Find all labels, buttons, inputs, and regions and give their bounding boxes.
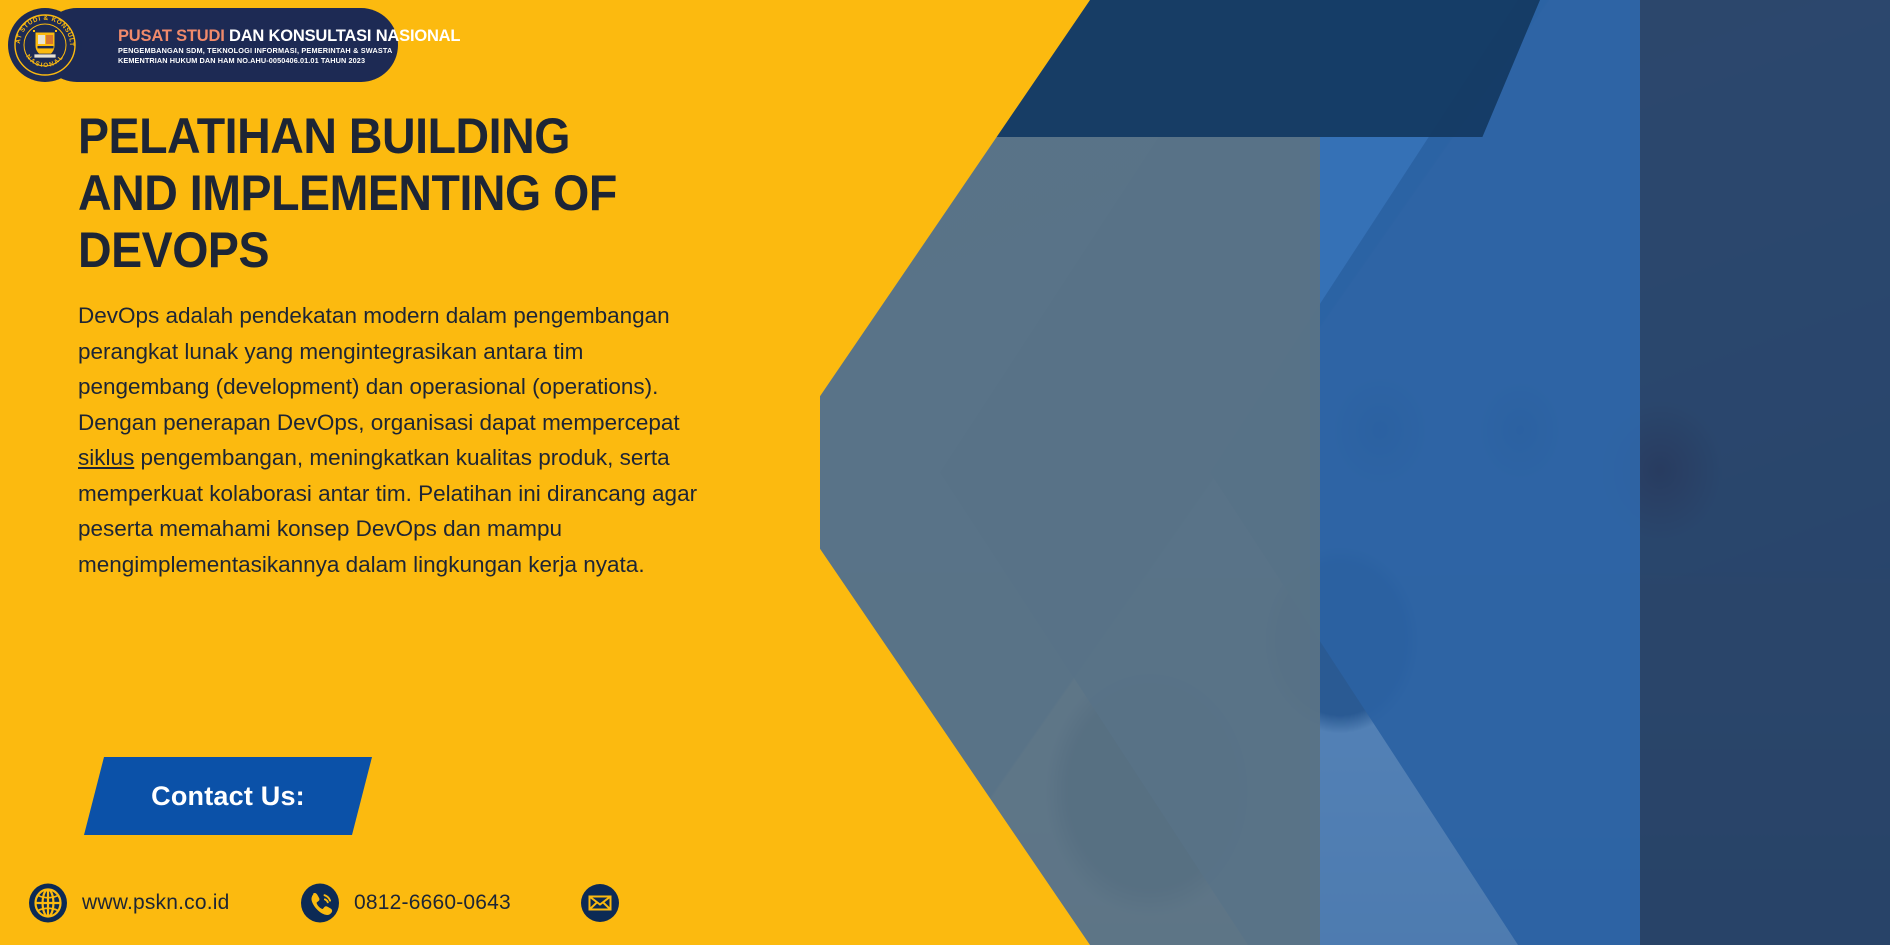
- brand-subtitle-1: PENGEMBANGAN SDM, TEKNOLOGI INFORMASI, P…: [118, 47, 460, 54]
- body-underlined-word: siklus: [78, 445, 134, 470]
- contact-us-button[interactable]: Contact Us:: [84, 757, 372, 835]
- brand-subtitle-2: KEMENTRIAN HUKUM DAN HAM NO.AHU-0050406.…: [118, 57, 460, 64]
- body-paragraph: DevOps adalah pendekatan modern dalam pe…: [78, 298, 718, 582]
- brand-header-pill: PUSAT STUDI DAN KONSULTASI NASIONAL PENG…: [40, 8, 398, 82]
- brand-title-part2: DAN KONSULTASI NASIONAL: [229, 27, 460, 45]
- page-title: PELATIHAN BUILDING AND IMPLEMENTING OF D…: [78, 108, 673, 279]
- logo-pskn-icon: PUSAT STUDI & KONSULTASI NASIONAL: [8, 8, 82, 82]
- brand-title: PUSAT STUDI DAN KONSULTASI NASIONAL: [118, 28, 460, 45]
- contact-us-label: Contact Us:: [151, 781, 305, 812]
- phone-icon: [300, 883, 340, 923]
- brand-text-block: PUSAT STUDI DAN KONSULTASI NASIONAL PENG…: [118, 26, 460, 65]
- promotional-banner: PUSAT STUDI DAN KONSULTASI NASIONAL PENG…: [0, 0, 1890, 945]
- body-text-before-link: DevOps adalah pendekatan modern dalam pe…: [78, 303, 680, 435]
- footer-phone-item[interactable]: 0812-6660-0643: [300, 883, 511, 923]
- photo-zone: [820, 0, 1890, 945]
- brand-title-part1: PUSAT STUDI: [118, 27, 225, 45]
- footer-phone-text: 0812-6660-0643: [354, 891, 511, 915]
- envelope-icon: [580, 883, 620, 923]
- globe-icon: [28, 883, 68, 923]
- body-text-after-link: pengembangan, meningkatkan kualitas prod…: [78, 445, 697, 577]
- footer-website-text: www.pskn.co.id: [82, 891, 230, 915]
- footer-contact-bar: www.pskn.co.id 0812-6660-0643: [0, 865, 840, 945]
- footer-email-item[interactable]: [580, 883, 634, 923]
- footer-website-item[interactable]: www.pskn.co.id: [28, 883, 230, 923]
